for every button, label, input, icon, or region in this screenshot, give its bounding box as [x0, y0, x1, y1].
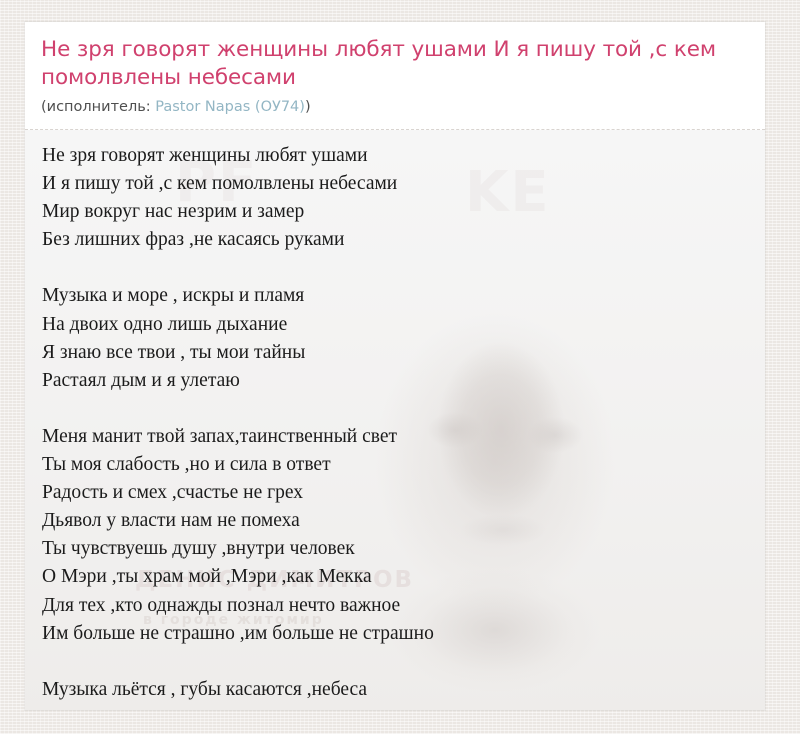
- page-title: Не зря говорят женщины любят ушами И я п…: [41, 36, 749, 92]
- song-page-card: Не зря говорят женщины любят ушами И я п…: [25, 22, 765, 710]
- lyric-line: Не зря говорят женщины любят ушами: [42, 142, 749, 170]
- lyric-line: Без лишних фраз ,не касаясь руками: [42, 226, 749, 254]
- lyric-line: Им больше не страшно ,им больше не страш…: [42, 620, 749, 648]
- lyrics-area: PF KE ДЕНИС ДИМИТРОВ в городе житомир DF…: [25, 130, 765, 710]
- song-header: Не зря говорят женщины любят ушами И я п…: [25, 22, 765, 130]
- lyric-line: И я пишу той ,с кем помолвлены небесами: [42, 170, 749, 198]
- lyric-line: О Мэри ,ты храм мой ,Мэри ,как Мекка: [42, 563, 749, 591]
- lyric-line: Растаял дым и я улетаю: [42, 367, 749, 395]
- lyric-line-blank: [42, 648, 749, 676]
- performer-prefix-label: (исполнитель:: [41, 99, 155, 115]
- lyric-line: Ты чувствуешь душу ,внутри человек: [42, 535, 749, 563]
- lyric-line: Музыка и море , искры и пламя: [42, 282, 749, 310]
- song-lyrics-text: Не зря говорят женщины любят ушамиИ я пи…: [25, 130, 765, 710]
- lyric-line: Радость и смех ,счастье не грех: [42, 479, 749, 507]
- lyric-line: Дьявол у власти нам не помеха: [42, 507, 749, 535]
- lyric-line: Музыка льётся , губы касаются ,небеса: [42, 676, 749, 704]
- lyric-line: Мир вокруг нас незрим и замер: [42, 198, 749, 226]
- lyric-line-blank: [42, 254, 749, 282]
- lyric-line: На двоих одно лишь дыхание: [42, 311, 749, 339]
- lyric-line-blank: [42, 395, 749, 423]
- lyric-line: Я знаю все твои , ты мои тайны: [42, 339, 749, 367]
- lyric-line: Целуя её я закрываю глаза: [42, 704, 749, 710]
- performer-line: (исполнитель: Pastor Napas (ОУ74)): [41, 97, 749, 117]
- lyric-line: Ты моя слабость ,но и сила в ответ: [42, 451, 749, 479]
- lyric-line: Меня манит твой запах,таинственный свет: [42, 423, 749, 451]
- performer-suffix-label: ): [305, 99, 311, 115]
- lyric-line: Для тех ,кто однажды познал нечто важное: [42, 592, 749, 620]
- artist-link[interactable]: Pastor Napas (ОУ74): [155, 99, 305, 115]
